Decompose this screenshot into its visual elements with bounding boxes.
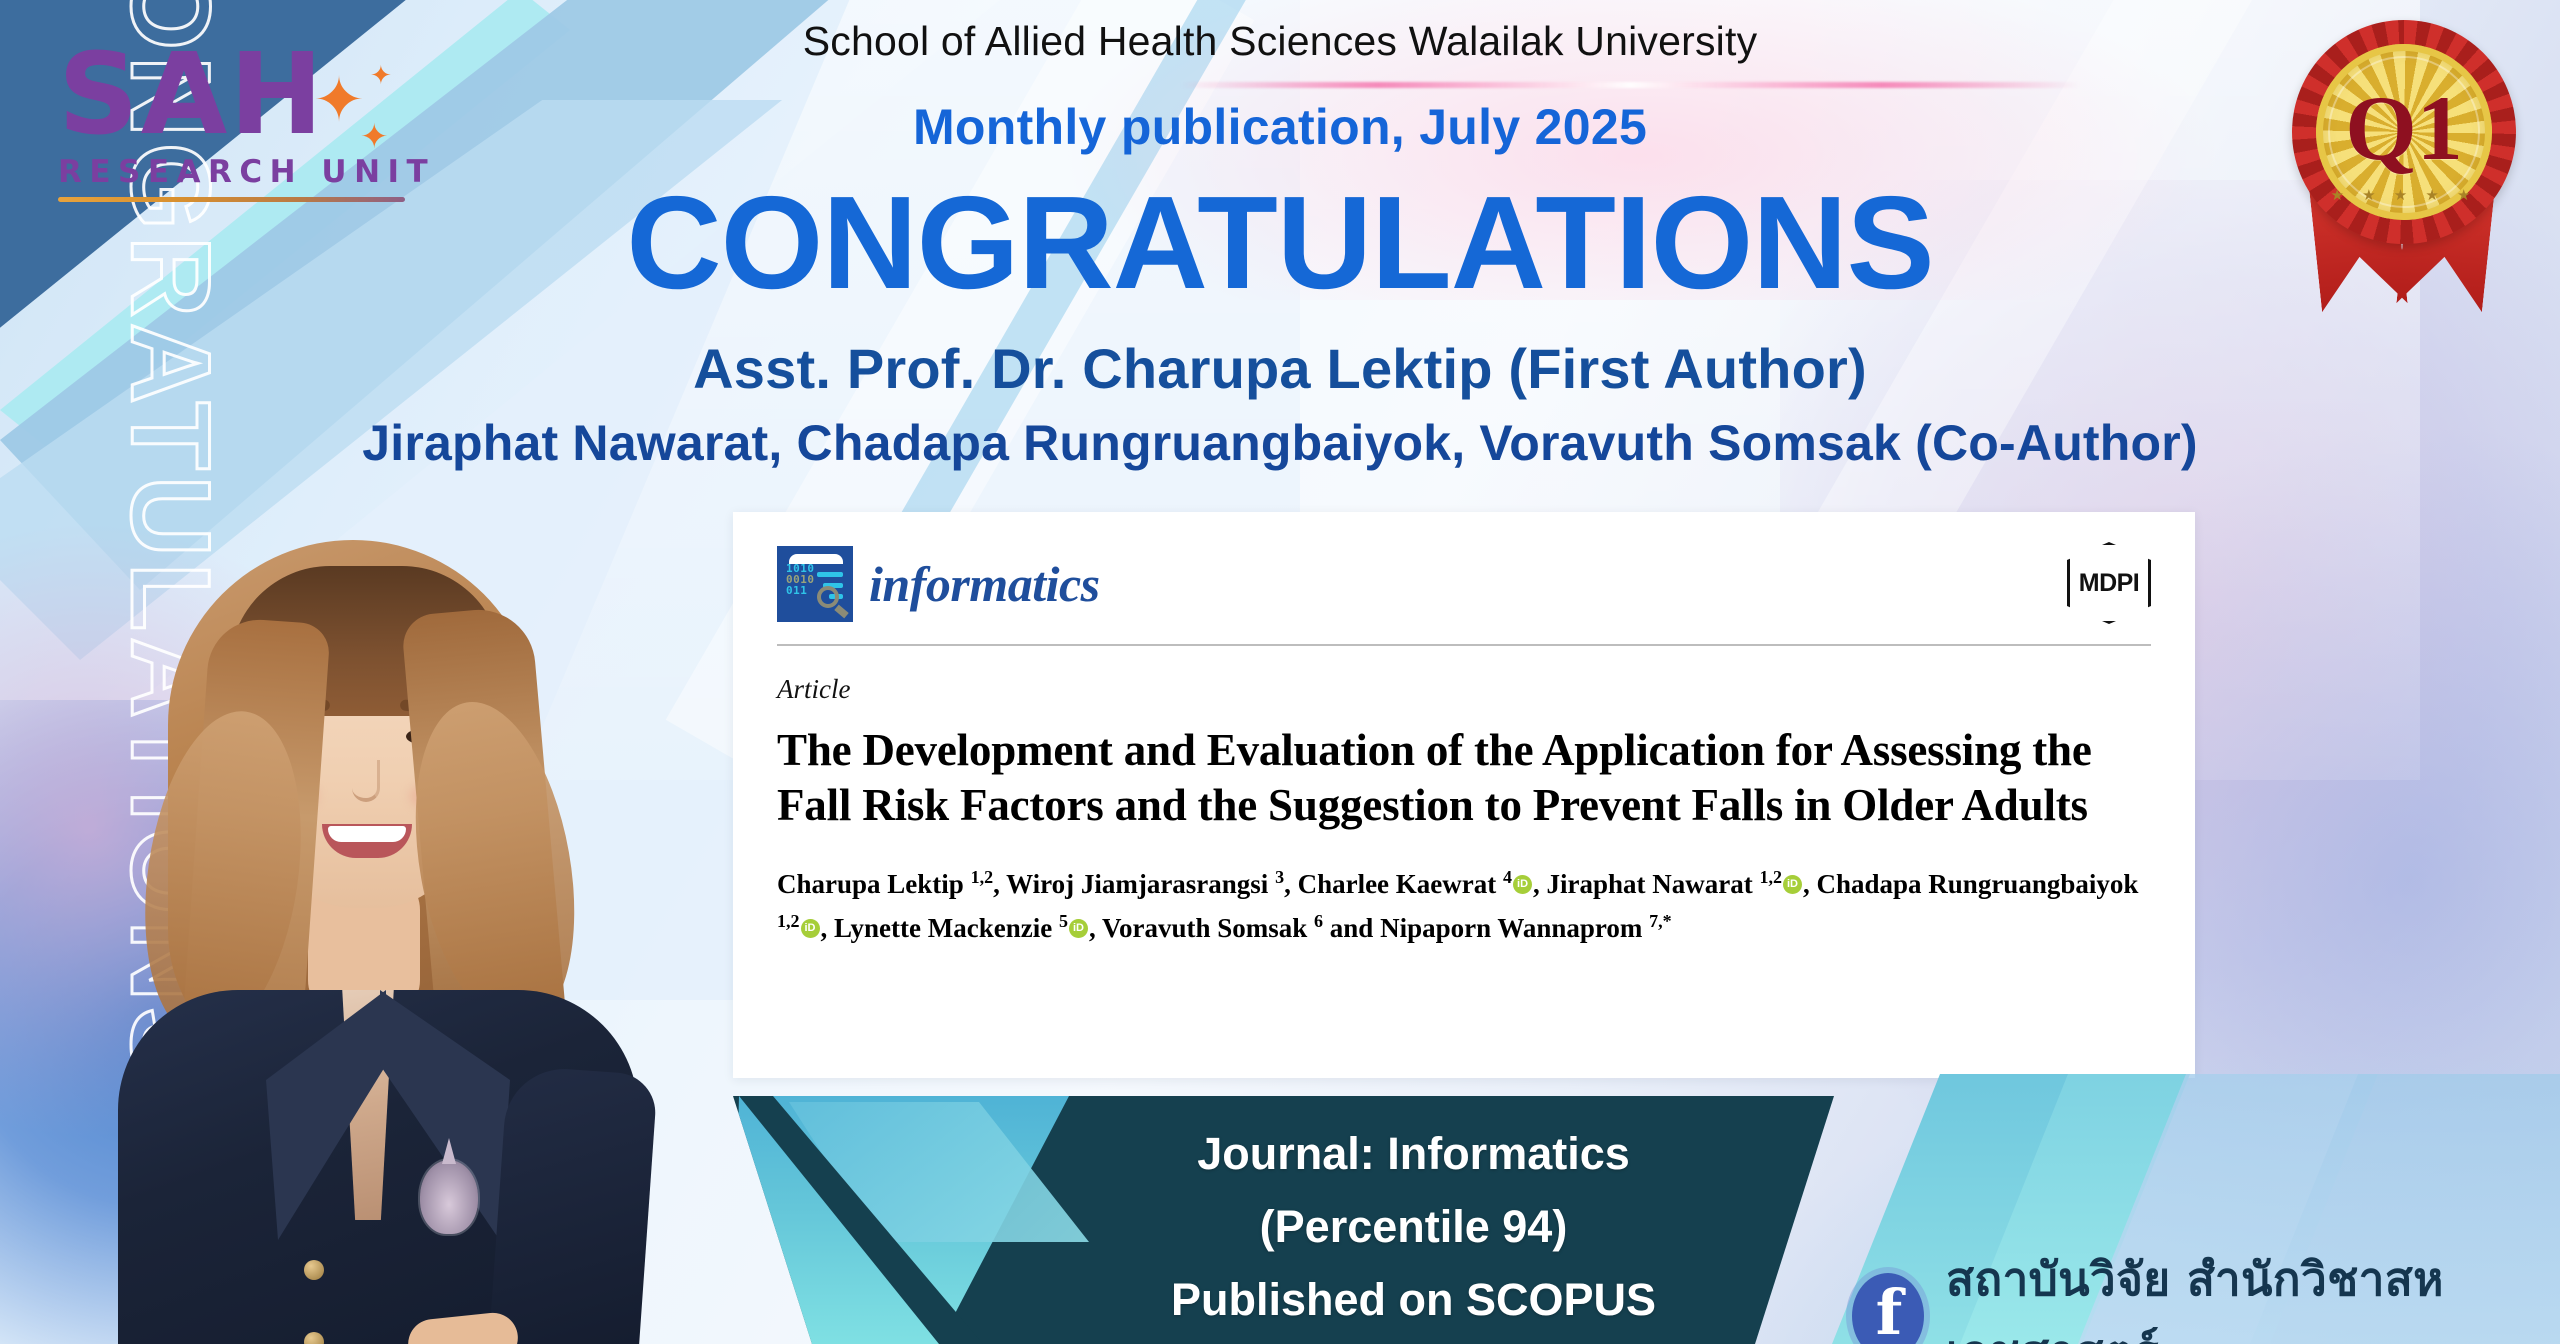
magnifier-icon	[817, 586, 839, 608]
card-divider	[777, 644, 2151, 646]
author-name: Jiraphat Nawarat	[1547, 869, 1760, 899]
informatics-mark-icon: 10100010011	[777, 546, 853, 622]
journal-info-banner: Journal: Informatics (Percentile 94) Pub…	[733, 1096, 1834, 1344]
journal-name: informatics	[869, 555, 1100, 613]
banner-percentile-line: (Percentile 94)	[1033, 1191, 1794, 1264]
facebook-page-name: สถาบันวิจัย สำนักวิชาสหเวชศาสตร์	[1946, 1243, 2560, 1344]
congratulations-poster: CONGRATULATIONS SAH RESEARCH UNIT ✦ ✦ ✦ …	[0, 0, 2560, 1344]
author-affiliation-marker: 1,2	[777, 911, 800, 931]
monthly-publication-subheading: Monthly publication, July 2025	[0, 98, 2560, 156]
author-separator: ,	[1533, 869, 1547, 899]
author-affiliation-marker: 1,2	[971, 867, 994, 887]
first-author-line: Asst. Prof. Dr. Charupa Lektip (First Au…	[0, 336, 2560, 401]
author-name: Nipaporn Wannaprom	[1380, 913, 1649, 943]
orcid-icon[interactable]: iD	[1783, 875, 1802, 894]
author-affiliation-marker: 4	[1503, 867, 1512, 887]
portrait-blazer-button	[304, 1260, 324, 1280]
author-name: Chadapa Rungruangbaiyok	[1817, 869, 2139, 899]
banner-journal-line: Journal: Informatics	[1033, 1118, 1794, 1191]
researcher-portrait-photo	[90, 470, 670, 1344]
co-author-line: Jiraphat Nawarat, Chadapa Rungruangbaiyo…	[0, 414, 2560, 472]
author-affiliation-marker: 6	[1314, 911, 1323, 931]
university-crest-pin-icon	[420, 1160, 478, 1234]
author-name: Wiroj Jiamjarasrangsi	[1006, 869, 1275, 899]
facebook-page-link[interactable]: สถาบันวิจัย สำนักวิชาสหเวชศาสตร์	[1852, 1243, 2560, 1344]
mdpi-logo: MDPI	[2067, 542, 2151, 624]
author-name: Charupa Lektip	[777, 869, 971, 899]
author-name: Charlee Kaewrat	[1298, 869, 1503, 899]
author-separator: ,	[993, 869, 1006, 899]
author-affiliation-marker: 3	[1275, 867, 1284, 887]
facebook-icon[interactable]	[1852, 1273, 1924, 1344]
author-name: Voravuth Somsak	[1102, 913, 1314, 943]
bg-glow-header-line	[1180, 82, 2080, 88]
banner-text-block: Journal: Informatics (Percentile 94) Pub…	[1033, 1118, 1794, 1337]
author-affiliation-marker: 1,2	[1760, 867, 1783, 887]
orcid-icon[interactable]: iD	[1513, 875, 1532, 894]
sparkle-icon: ✦	[370, 62, 392, 88]
author-separator: ,	[1089, 913, 1102, 943]
portrait-nose	[352, 760, 380, 802]
paper-card-header: 10100010011 informatics MDPI	[733, 512, 2195, 642]
author-separator: ,	[1803, 869, 1817, 899]
orcid-icon[interactable]: iD	[1069, 919, 1088, 938]
banner-scopus-line: Published on SCOPUS	[1033, 1264, 1794, 1337]
portrait-teeth	[328, 826, 406, 842]
author-affiliation-marker: 5	[1059, 911, 1068, 931]
school-name-heading: School of Allied Health Sciences Walaila…	[0, 18, 2560, 65]
orcid-icon[interactable]: iD	[801, 919, 820, 938]
journal-logo: 10100010011 informatics	[777, 546, 1100, 622]
author-separator: ,	[821, 913, 835, 943]
author-affiliation-marker: 7,*	[1649, 911, 1672, 931]
author-separator: and	[1323, 913, 1380, 943]
paper-card-body: Article The Development and Evaluation o…	[777, 674, 2151, 950]
paper-preview-card: 10100010011 informatics MDPI Article The…	[733, 512, 2195, 1078]
author-name: Lynette Mackenzie	[834, 913, 1059, 943]
paper-title: The Development and Evaluation of the Ap…	[777, 723, 2151, 833]
author-separator: ,	[1284, 869, 1298, 899]
bar-shape	[817, 572, 843, 577]
mdpi-label: MDPI	[2067, 542, 2151, 624]
article-type-label: Article	[777, 674, 2151, 705]
page-title: CONGRATULATIONS	[0, 170, 2560, 315]
paper-author-list: Charupa Lektip 1,2, Wiroj Jiamjarasrangs…	[777, 863, 2151, 950]
portrait-arm-right	[488, 1065, 658, 1344]
